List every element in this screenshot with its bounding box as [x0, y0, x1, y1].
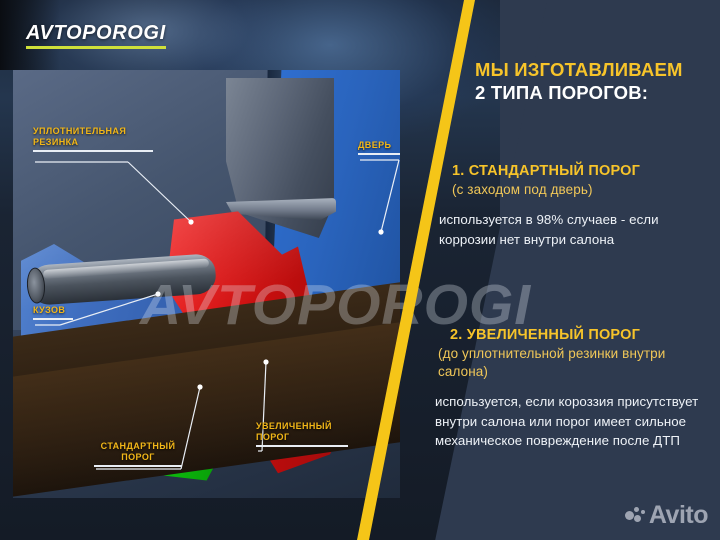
- panel-headline: МЫ ИЗГОТАВЛИВАЕМ 2 ТИПА ПОРОГОВ:: [475, 58, 715, 104]
- section-1-body: используется в 98% случаев - если корроз…: [439, 210, 714, 249]
- callout-seal-rubber: УПЛОТНИТЕЛЬНАЯ РЕЗИНКА: [33, 126, 153, 152]
- callout-seal-rubber-underline: [33, 150, 153, 152]
- section-enlarged-sill: 2. УВЕЛИЧЕННЫЙ ПОРОГ (до уплотнительной …: [438, 326, 700, 451]
- callout-body-label: КУЗОВ: [33, 305, 73, 316]
- callout-enlarged-sill-underline: [256, 445, 348, 447]
- callout-body-underline: [33, 318, 73, 320]
- callout-standard-sill-label: СТАНДАРТНЫЙ ПОРОГ: [94, 441, 182, 463]
- callout-standard-sill-underline: [94, 465, 182, 467]
- section-2-body: используется, если короззия присутствует…: [435, 392, 700, 451]
- callout-door-label: ДВЕРЬ: [358, 140, 400, 151]
- callout-door: ДВЕРЬ: [358, 140, 400, 155]
- callout-enlarged-sill-label: УВЕЛИЧЕННЫЙ ПОРОГ: [256, 421, 348, 443]
- callout-standard-sill: СТАНДАРТНЫЙ ПОРОГ: [94, 441, 182, 467]
- infographic-canvas: AVTOPOROGI УПЛОТНИТЕЛЬНАЯ РЕЗИНКА КУЗОВ …: [0, 0, 720, 540]
- section-2-title: 2. УВЕЛИЧЕННЫЙ ПОРОГ: [450, 326, 700, 345]
- brand-logo-text: AVTOPOROGI: [26, 22, 166, 44]
- avito-wordmark: Avito: [649, 503, 708, 528]
- headline-line-1: МЫ ИЗГОТАВЛИВАЕМ: [475, 58, 715, 81]
- headline-line-2: 2 ТИПА ПОРОГОВ:: [475, 81, 715, 104]
- callout-door-underline: [358, 153, 400, 155]
- brand-logo-underline: [26, 46, 166, 49]
- avito-dots-icon: [625, 507, 645, 525]
- section-1-title: 1. СТАНДАРТНЫЙ ПОРОГ: [452, 162, 714, 181]
- section-1-subtitle: (с заходом под дверь): [452, 181, 714, 199]
- avito-logo: Avito: [625, 503, 708, 528]
- callout-seal-rubber-label: УПЛОТНИТЕЛЬНАЯ РЕЗИНКА: [33, 126, 153, 148]
- right-panel-content: МЫ ИЗГОТАВЛИВАЕМ 2 ТИПА ПОРОГОВ: 1. СТАН…: [400, 0, 720, 540]
- callout-enlarged-sill: УВЕЛИЧЕННЫЙ ПОРОГ: [256, 421, 348, 447]
- section-2-subtitle: (до уплотнительной резинки внутри салона…: [438, 345, 700, 381]
- brand-logo: AVTOPOROGI: [26, 22, 166, 49]
- section-standard-sill: 1. СТАНДАРТНЫЙ ПОРОГ (с заходом под двер…: [452, 162, 714, 249]
- callout-body: КУЗОВ: [33, 305, 73, 320]
